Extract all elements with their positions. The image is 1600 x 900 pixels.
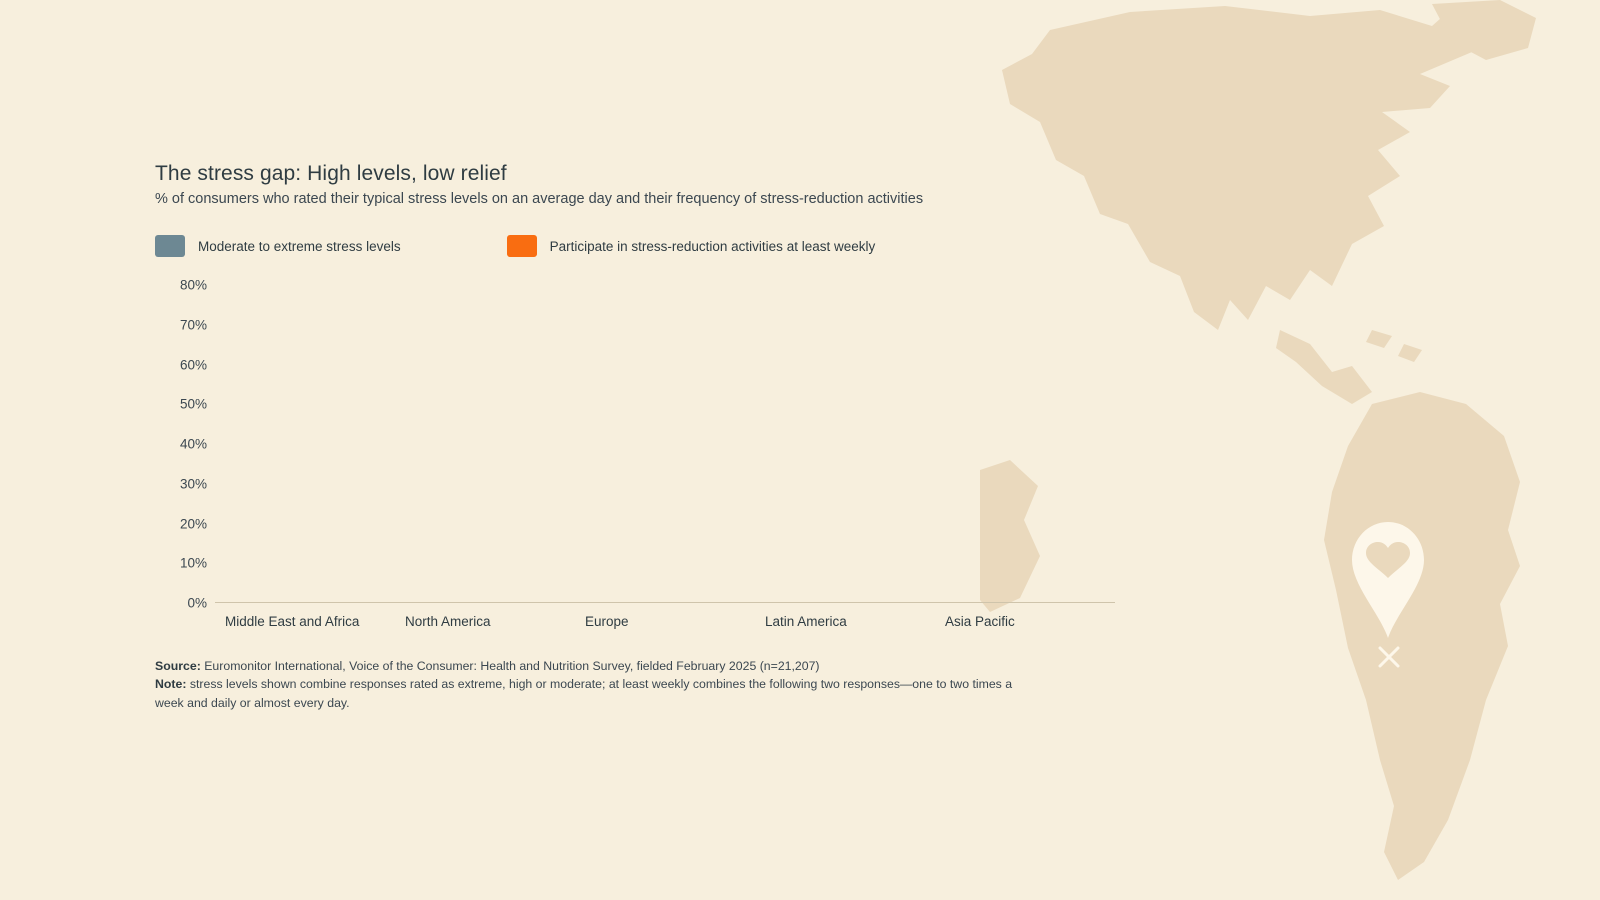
source-line: Source: Euromonitor International, Voice… [155, 657, 1025, 675]
x-axis-label: North America [395, 614, 575, 629]
note-label: Note: [155, 677, 186, 691]
legend-item-stress-levels[interactable]: Moderate to extreme stress levels [155, 235, 401, 257]
source-label: Source: [155, 659, 201, 673]
source-text: Euromonitor International, Voice of the … [201, 659, 820, 673]
map-pin-heart-icon [1352, 522, 1424, 638]
bar-groups [215, 285, 1115, 602]
x-axis-label-text: Latin America [765, 614, 847, 629]
y-axis-tick: 50% [180, 397, 207, 412]
y-axis-tick: 30% [180, 476, 207, 491]
bar-group [215, 285, 395, 602]
x-axis-label: Asia Pacific [935, 614, 1115, 629]
chart-legend: Moderate to extreme stress levels Partic… [155, 235, 1115, 257]
bar-group [935, 285, 1115, 602]
note-line: Note: stress levels shown combine respon… [155, 675, 1025, 712]
note-text: stress levels shown combine responses ra… [155, 677, 1012, 709]
plot-area: 80%70%60%50%40%30%20%10%0% [155, 285, 1115, 603]
x-axis-label-text: Asia Pacific [945, 614, 1015, 629]
legend-item-participation[interactable]: Participate in stress-reduction activiti… [507, 235, 876, 257]
y-axis: 80%70%60%50%40%30%20%10%0% [155, 285, 207, 603]
chart-figure: The stress gap: High levels, low relief … [155, 162, 1115, 712]
legend-swatch-stress-levels [155, 235, 185, 257]
bars-container [215, 285, 1115, 603]
x-axis-label-text: Europe [585, 614, 629, 629]
x-axis-labels: Middle East and AfricaNorth AmericaEurop… [155, 614, 1115, 629]
footnotes: Source: Euromonitor International, Voice… [155, 657, 1025, 712]
close-x-icon [1380, 648, 1398, 666]
y-axis-tick: 80% [180, 278, 207, 293]
bar-group [755, 285, 935, 602]
bar-group [395, 285, 575, 602]
y-axis-tick: 60% [180, 357, 207, 372]
legend-label-participation: Participate in stress-reduction activiti… [550, 239, 876, 254]
chart-subtitle: % of consumers who rated their typical s… [155, 191, 1115, 207]
y-axis-tick: 70% [180, 317, 207, 332]
x-axis-label: Middle East and Africa [215, 614, 395, 629]
x-axis-label-text: Middle East and Africa [225, 614, 359, 629]
y-axis-tick: 20% [180, 516, 207, 531]
x-axis-label: Latin America [755, 614, 935, 629]
x-axis-label-text: North America [405, 614, 491, 629]
legend-label-stress-levels: Moderate to extreme stress levels [198, 239, 401, 254]
y-axis-tick: 0% [187, 596, 207, 611]
y-axis-tick: 10% [180, 556, 207, 571]
bar-group [575, 285, 755, 602]
chart-title: The stress gap: High levels, low relief [155, 162, 1115, 186]
x-axis-label: Europe [575, 614, 755, 629]
y-axis-tick: 40% [180, 437, 207, 452]
legend-swatch-participation [507, 235, 537, 257]
